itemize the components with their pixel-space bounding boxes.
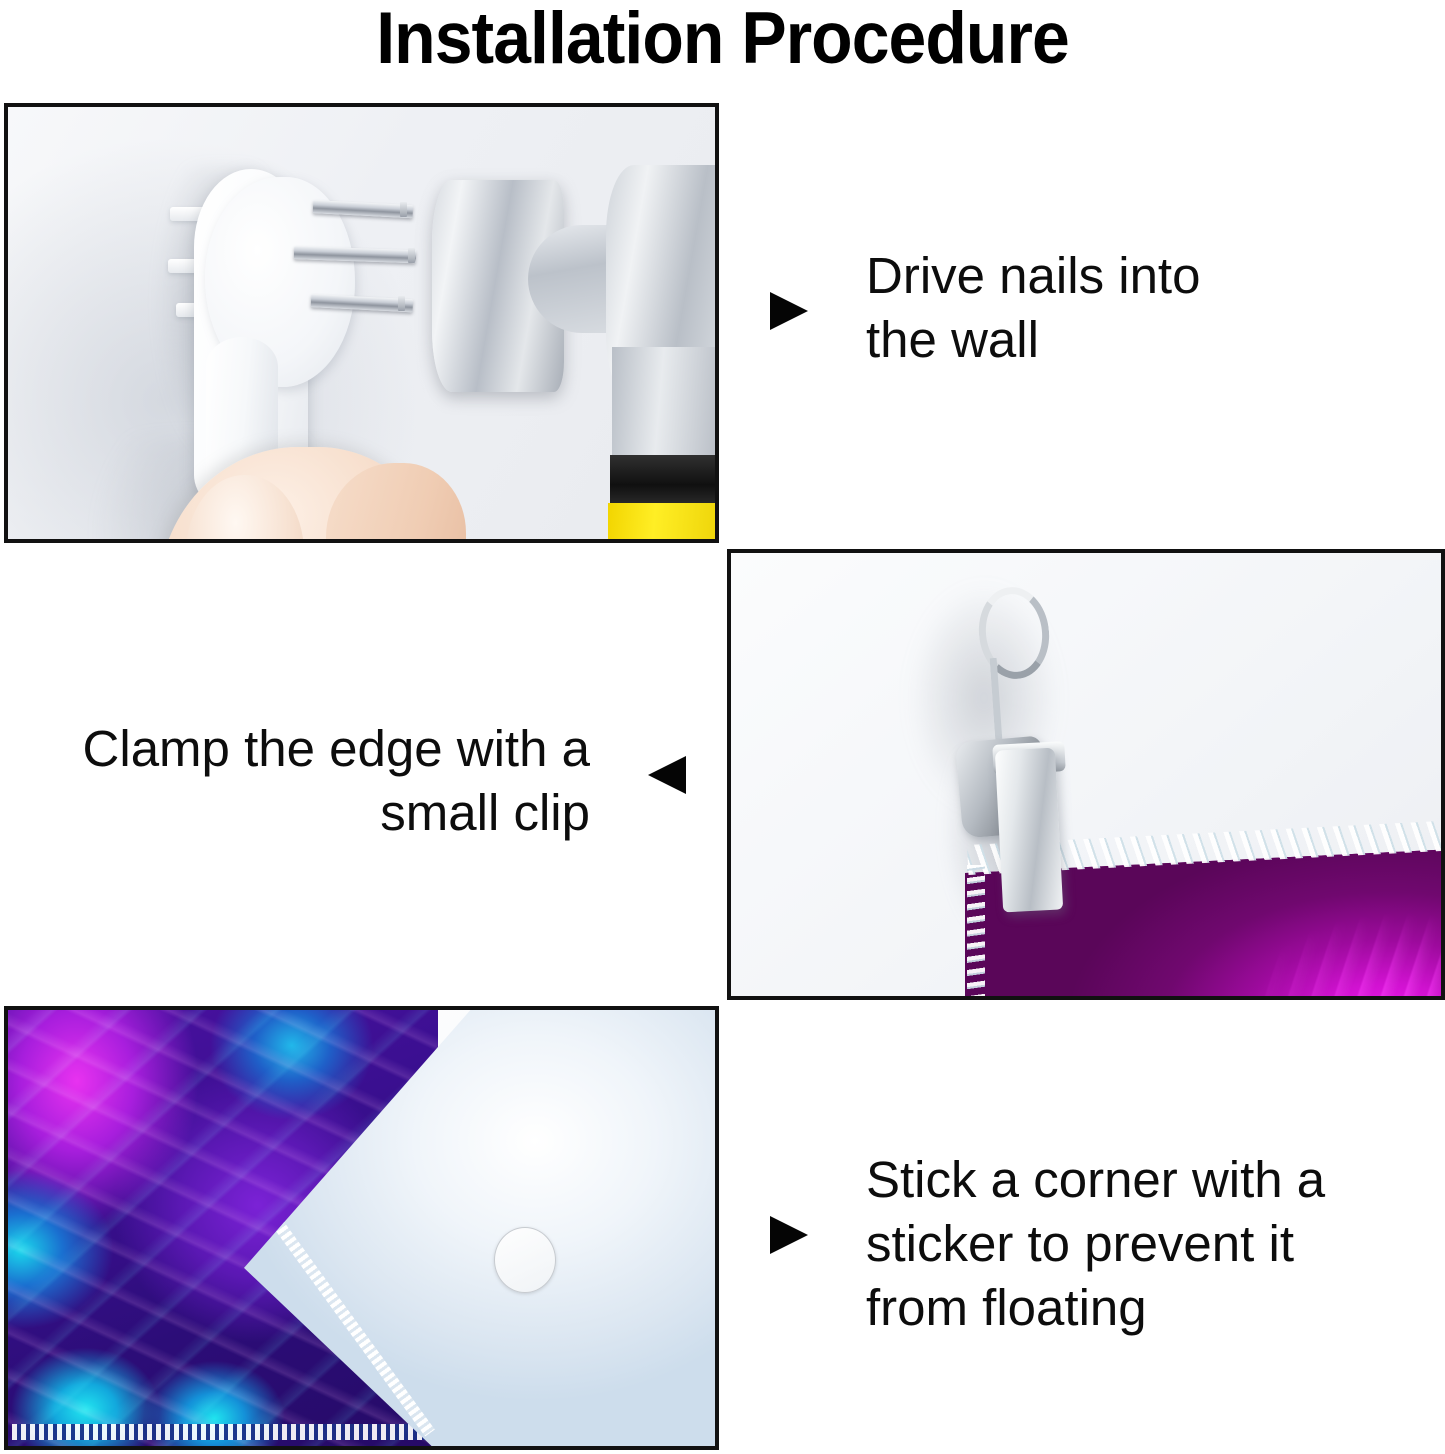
nail-head-upper [400, 202, 407, 217]
step-3-label: Stick a corner with a sticker to prevent… [866, 1148, 1336, 1340]
photo-drive-nails [4, 103, 719, 543]
nail-head-lower [398, 296, 405, 311]
triangle-left-icon [648, 756, 686, 794]
hammer-shaft [612, 347, 719, 467]
adhesive-sticker [494, 1227, 556, 1293]
clip-jaw [995, 748, 1063, 913]
tapestry-feather-pattern [1161, 863, 1445, 1000]
step-1-label: Drive nails into the wall [866, 244, 1286, 372]
step-2-label: Clamp the edge with a small clip [70, 717, 590, 845]
hammer-ferrule [610, 455, 719, 505]
photo-corner-sticker-content [8, 1010, 715, 1446]
nail-head-middle [408, 248, 415, 263]
page-title: Installation Procedure [51, 2, 1395, 75]
photo-clamp-clip-content [731, 553, 1441, 996]
photo-clamp-clip [727, 549, 1445, 1000]
hammer-grip [608, 503, 719, 543]
photo-corner-sticker [4, 1006, 719, 1450]
triangle-right-icon [770, 1216, 808, 1254]
photo-drive-nails-content [8, 107, 715, 539]
tapestry-left-stitching [967, 865, 985, 1000]
triangle-right-icon [770, 292, 808, 330]
tapestry-bottom-stitching [12, 1424, 437, 1440]
